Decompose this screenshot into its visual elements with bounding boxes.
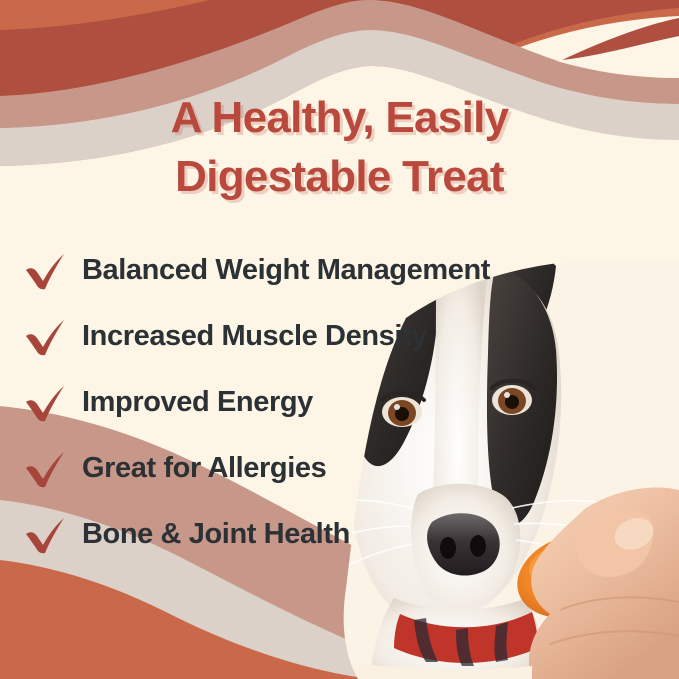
list-item: Bone & Joint Health — [22, 501, 642, 567]
list-item-label: Bone & Joint Health — [82, 518, 350, 551]
list-item: Great for Allergies — [22, 435, 642, 501]
check-icon — [22, 380, 68, 424]
check-icon — [22, 512, 68, 556]
check-icon — [22, 248, 68, 292]
promotional-poster: A Healthy, Easily Digestable Treat Balan… — [0, 0, 679, 679]
list-item-label: Improved Energy — [82, 386, 313, 419]
list-item: Improved Energy — [22, 369, 642, 435]
list-item: Increased Muscle Density — [22, 303, 642, 369]
check-icon — [22, 314, 68, 358]
list-item: Balanced Weight Management — [22, 237, 642, 303]
list-item-label: Balanced Weight Management — [82, 254, 490, 287]
list-item-label: Great for Allergies — [82, 452, 326, 485]
check-icon — [22, 446, 68, 490]
benefit-list: Balanced Weight Management Increased Mus… — [22, 237, 642, 567]
list-item-label: Increased Muscle Density — [82, 320, 427, 353]
